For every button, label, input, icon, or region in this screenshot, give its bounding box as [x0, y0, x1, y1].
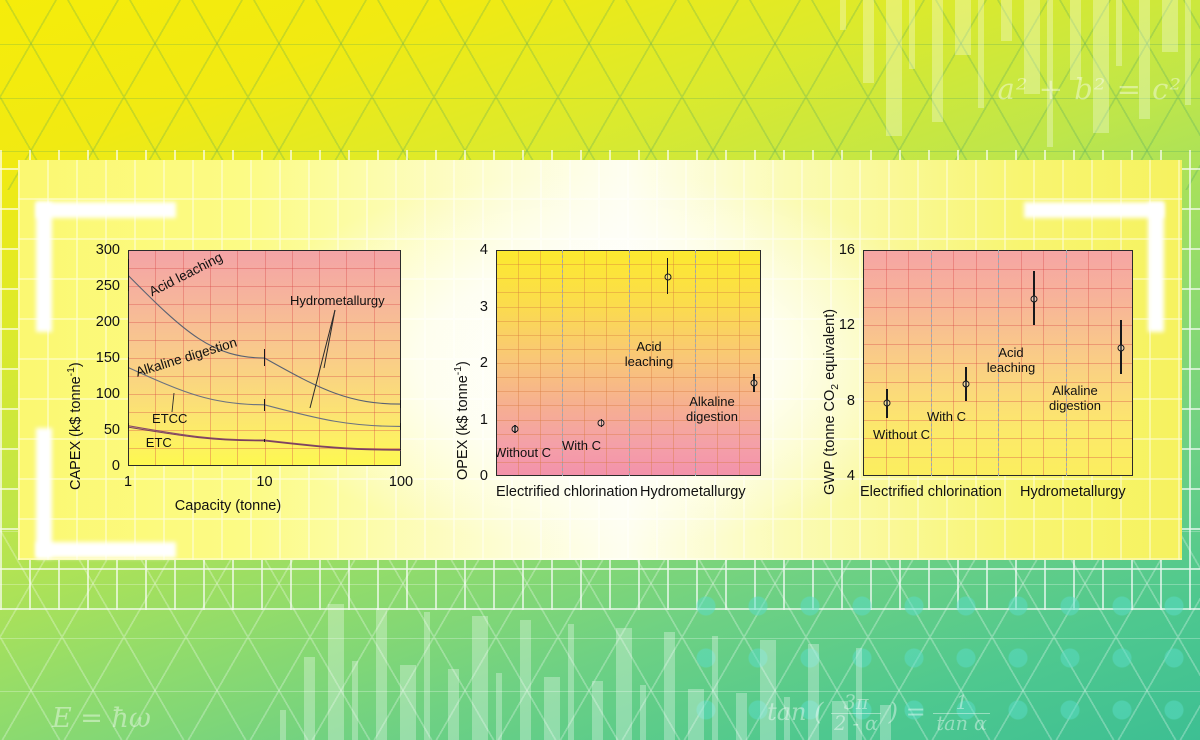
opex-group-label-left: Electrified chlorination: [496, 484, 638, 500]
opex-group-label-right: Hydrometallurgy: [640, 484, 746, 500]
formula-tangent: tan ( 3π 2 - α ) = 1 tan α: [767, 693, 990, 734]
opex-axis-right: [760, 250, 761, 476]
formula-tangent-paren: (: [814, 698, 823, 726]
chart-panel-gwp: GWP (tonne CO2 equivalent) Without C Wit…: [798, 160, 1182, 560]
chart-panel-capex: CAPEX (k$ tonne-1) Acid leaching Alkalin…: [18, 160, 438, 560]
formula-tangent-lead: tan: [767, 698, 806, 726]
capex-label-etc: ETC: [146, 436, 172, 451]
formula-pythagorean: a² + b² = c²: [998, 72, 1182, 106]
gwp-axis-left: [863, 250, 864, 476]
capex-x-axis-title: Capacity (tonne): [175, 498, 281, 514]
gwp-label-without-c: Without C: [873, 428, 930, 443]
opex-label-with-c: With C: [562, 439, 601, 454]
capex-plot-area[interactable]: Acid leaching Alkaline digestion ETCC ET…: [128, 250, 401, 466]
formula-planck: E = ħω: [52, 703, 151, 734]
gwp-label-with-c: With C: [927, 410, 966, 425]
gwp-group-label-right: Hydrometallurgy: [1020, 484, 1126, 500]
gwp-label-alkaline-digestion: Alkaline digestion: [1049, 384, 1101, 413]
gwp-group-label-left: Electrified chlorination: [860, 484, 1002, 500]
opex-label-alkaline-digestion: Alkaline digestion: [686, 395, 738, 424]
formula-tangent-fraction-2: 1 tan α: [933, 693, 990, 734]
gwp-plot-area[interactable]: Without C With C Acid leaching Alkaline …: [863, 250, 1133, 476]
opex-axis-left: [496, 250, 497, 476]
gwp-y-axis-title: GWP (tonne CO2 equivalent): [822, 309, 841, 495]
chart-panel-opex: OPEX (k$ tonne-1) Without C With C Acid …: [418, 160, 798, 560]
opex-plot-area[interactable]: Without C With C Acid leaching Alkaline …: [496, 250, 761, 476]
capex-label-hydrometallurgy: Hydrometallurgy: [290, 294, 385, 309]
capex-label-etcc: ETCC: [152, 412, 187, 427]
opex-label-without-c: Without C: [496, 446, 551, 461]
screenshot-root: a² + b² = c² E = ħω tan ( 3π 2 - α ) = 1…: [0, 0, 1200, 740]
opex-y-axis-title: OPEX (k$ tonne-1): [453, 361, 471, 480]
gwp-label-acid-leaching: Acid leaching: [987, 346, 1035, 375]
formula-tangent-eq: ) =: [889, 698, 926, 726]
figure-card: CAPEX (k$ tonne-1) Acid leaching Alkalin…: [18, 160, 1182, 560]
capex-y-axis-title: CAPEX (k$ tonne-1): [66, 362, 84, 490]
formula-tangent-fraction-1: 3π 2 - α: [831, 693, 881, 734]
opex-label-acid-leaching: Acid leaching: [625, 340, 673, 369]
gwp-axis-right: [1132, 250, 1133, 476]
